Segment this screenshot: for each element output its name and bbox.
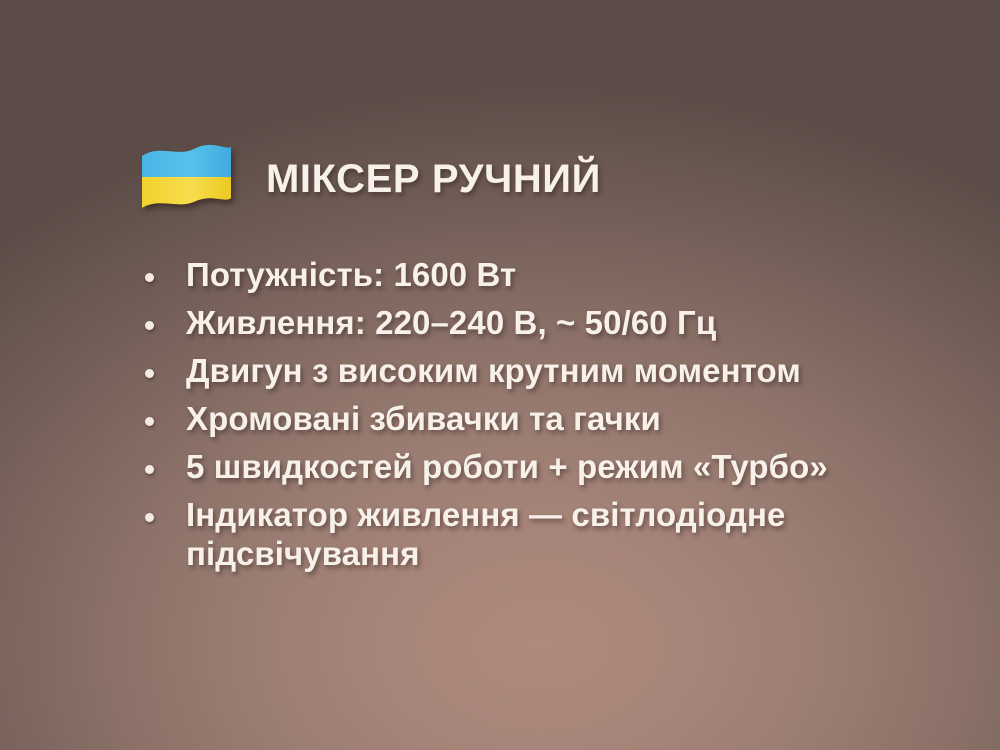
list-item: Живлення: 220–240 В, ~ 50/60 Гц <box>140 304 940 343</box>
bullet-dot-icon <box>145 513 154 522</box>
slide-header: МІКСЕР РУЧНИЙ <box>138 142 601 216</box>
list-item-label: Живлення: 220–240 В, ~ 50/60 Гц <box>186 304 886 343</box>
bullet-dot-icon <box>145 465 154 474</box>
page-title: МІКСЕР РУЧНИЙ <box>266 159 601 199</box>
bullet-dot-icon <box>145 273 154 282</box>
bullet-dot-icon <box>145 369 154 378</box>
list-item: Індикатор живлення — світлодіодне підсві… <box>140 496 940 574</box>
product-spec-slide: МІКСЕР РУЧНИЙ Потужність: 1600 Вт Живлен… <box>0 0 1000 750</box>
list-item-label: Потужність: 1600 Вт <box>186 256 886 295</box>
list-item: 5 швидкостей роботи + режим «Турбо» <box>140 448 940 487</box>
list-item: Двигун з високим крутним моментом <box>140 352 940 391</box>
ukraine-flag-icon <box>138 142 234 216</box>
list-item-label: Хромовані збивачки та гачки <box>186 400 886 439</box>
bullet-dot-icon <box>145 417 154 426</box>
bullet-dot-icon <box>145 321 154 330</box>
list-item: Хромовані збивачки та гачки <box>140 400 940 439</box>
list-item: Потужність: 1600 Вт <box>140 256 940 295</box>
list-item-label: Двигун з високим крутним моментом <box>186 352 886 391</box>
list-item-label: 5 швидкостей роботи + режим «Турбо» <box>186 448 886 487</box>
list-item-label: Індикатор живлення — світлодіодне підсві… <box>186 496 886 574</box>
spec-list: Потужність: 1600 Вт Живлення: 220–240 В,… <box>140 256 940 574</box>
